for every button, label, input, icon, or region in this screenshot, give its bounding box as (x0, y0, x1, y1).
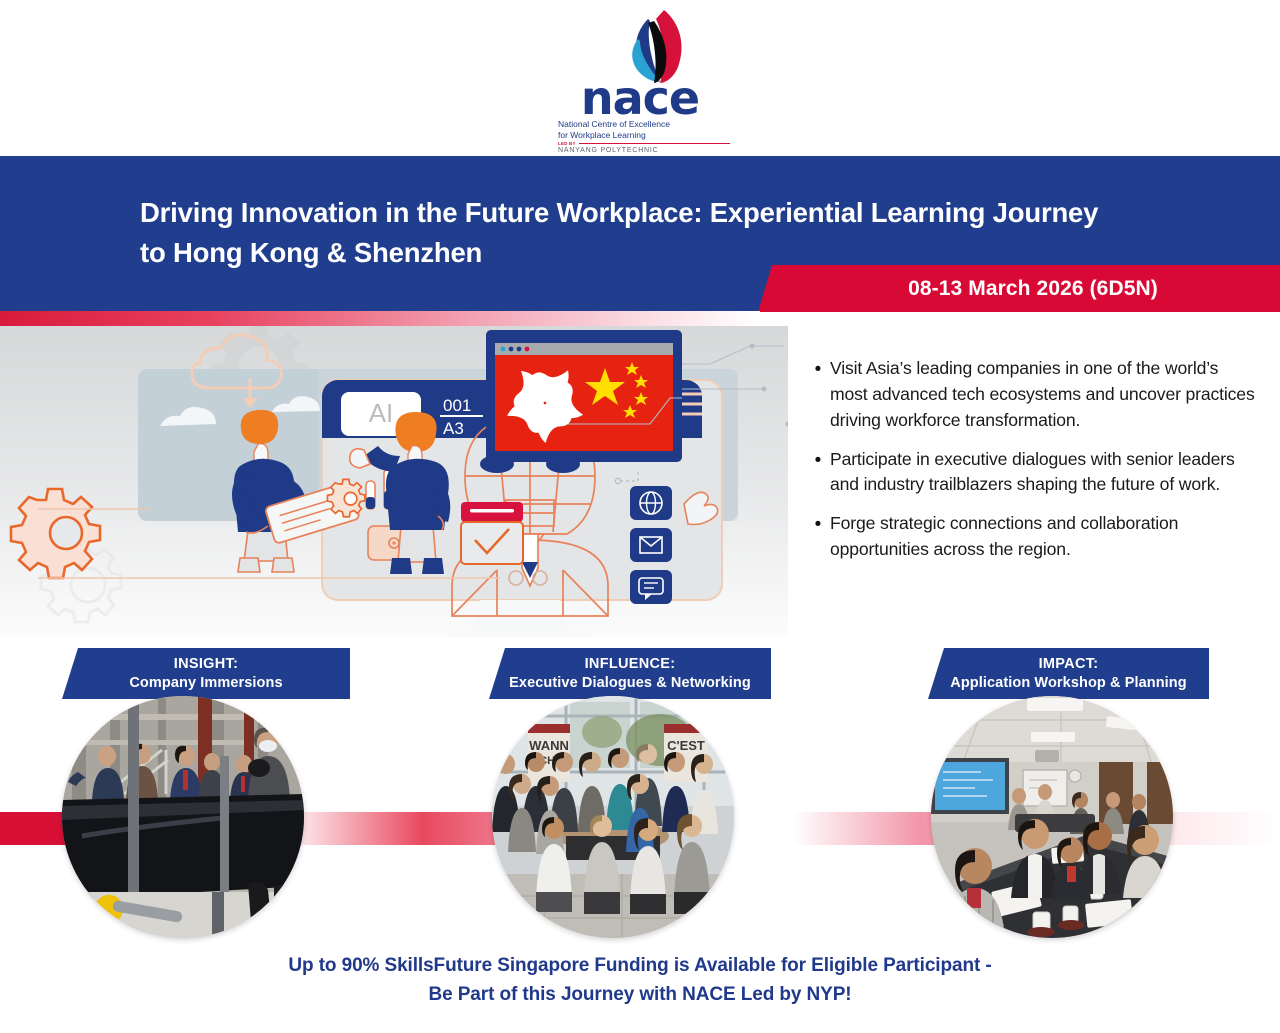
calendar-check-icon (461, 502, 523, 564)
pillar-impact-heading: IMPACT: (1039, 655, 1099, 673)
highlights-list: • Visit Asia’s leading companies in one … (806, 356, 1258, 576)
pillar-influence-ribbon: INFLUENCE: Executive Dialogues & Network… (489, 648, 771, 699)
pillar-insight: INSIGHT: Company Immersions (62, 648, 362, 938)
pillar-insight-heading: INSIGHT: (174, 655, 238, 673)
logo-led-by-label: LED BY (558, 141, 576, 146)
top-accent-stripe (0, 311, 760, 326)
pillar-influence: INFLUENCE: Executive Dialogues & Network… (489, 648, 789, 938)
hero-illustration: AI 001 A3 (0, 326, 788, 637)
logo-institution: NANYANG POLYTECHNIC (558, 147, 730, 154)
pillar-impact: IMPACT: Application Workshop & Planning (928, 648, 1228, 938)
pillar-insight-subheading: Company Immersions (129, 674, 282, 692)
list-item: • Forge strategic connections and collab… (806, 511, 1258, 563)
list-item: • Visit Asia’s leading companies in one … (806, 356, 1258, 434)
pillar-influence-photo: WANN ICHT C'EST (492, 696, 734, 938)
list-item-text: Participate in executive dialogues with … (830, 447, 1258, 499)
funding-footer: Up to 90% SkillsFuture Singapore Funding… (0, 952, 1280, 1009)
svg-text:WANN: WANN (529, 738, 569, 753)
logo-wordmark: nace (550, 75, 730, 121)
bullet-icon: • (806, 447, 830, 499)
code-top: 001 (443, 396, 471, 415)
list-item-text: Visit Asia’s leading companies in one of… (830, 356, 1258, 434)
logo-led-by: LED BY (558, 141, 730, 146)
gear-small-icon (327, 479, 364, 516)
pillar-influence-heading: INFLUENCE: (585, 655, 676, 673)
logo-header: nace National Centre of Excellence for W… (0, 0, 1280, 156)
ai-workplace-illustration: AI 001 A3 (0, 326, 788, 637)
group-delegation-photo: WANN ICHT C'EST (492, 696, 734, 938)
pillar-impact-photo (931, 696, 1173, 938)
pillar-impact-ribbon: IMPACT: Application Workshop & Planning (928, 648, 1209, 699)
code-bottom: A3 (443, 419, 464, 438)
ai-label: AI (369, 398, 394, 428)
logo-led-by-rule (579, 143, 730, 144)
poster-root: nace National Centre of Excellence for W… (0, 0, 1280, 1033)
chat-bubble-icon (630, 570, 672, 604)
factory-plant-tour-photo (62, 696, 304, 938)
bullet-icon: • (806, 356, 830, 434)
funding-footer-line2: Be Part of this Journey with NACE Led by… (0, 981, 1280, 1010)
date-badge-label: 08-13 March 2026 (6D5N) (880, 277, 1158, 301)
pillar-impact-subheading: Application Workshop & Planning (950, 674, 1186, 692)
page-title: Driving Innovation in the Future Workpla… (140, 193, 1100, 273)
logo-tagline: National Centre of Excellence for Workpl… (550, 119, 730, 142)
gear-orange-icon (11, 489, 100, 578)
pillar-insight-ribbon: INSIGHT: Company Immersions (62, 648, 350, 699)
list-item: • Participate in executive dialogues wit… (806, 447, 1258, 499)
list-item-text: Forge strategic connections and collabor… (830, 511, 1258, 563)
svg-text:C'EST: C'EST (667, 738, 705, 753)
funding-footer-line1: Up to 90% SkillsFuture Singapore Funding… (0, 952, 1280, 981)
pillar-influence-subheading: Executive Dialogues & Networking (509, 674, 751, 692)
date-badge: 08-13 March 2026 (6D5N) (758, 265, 1280, 312)
nace-logo: nace National Centre of Excellence for W… (550, 3, 730, 153)
hong-kong-china-flag-window (486, 330, 682, 462)
workshop-meeting-room-photo (931, 696, 1173, 938)
pillar-insight-photo (62, 696, 304, 938)
logo-tagline-line1: National Centre of Excellence (558, 119, 730, 130)
bullet-icon: • (806, 511, 830, 563)
